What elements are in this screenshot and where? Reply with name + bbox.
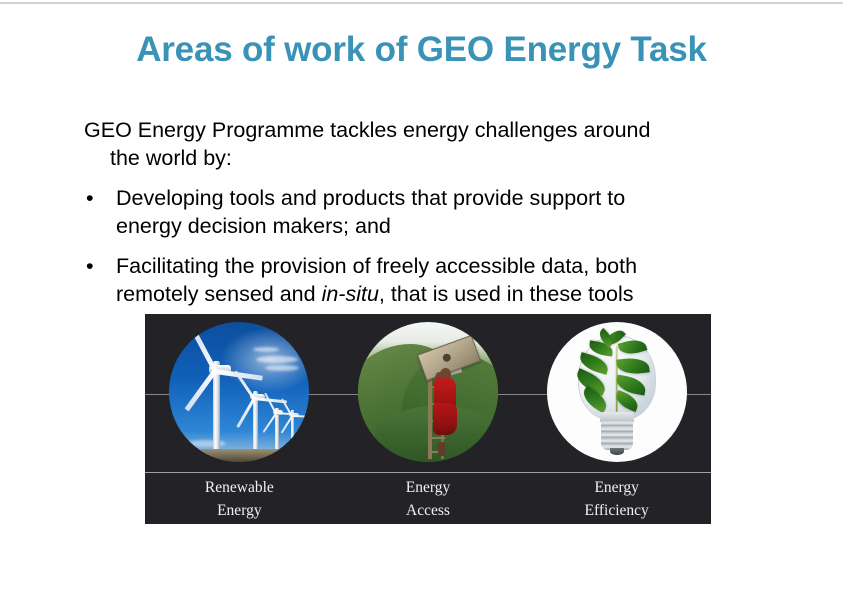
figure-caption-renewable-energy: Renewable Energy [145,476,334,522]
lightbulb-contact-tip [610,448,624,455]
caption-line-2: Energy [145,499,334,522]
lightbulb-with-plant-photo [547,322,687,462]
person-skirt-red-sari [433,403,457,435]
bullet-item-2: • Facilitating the provision of freely a… [84,252,774,308]
ladder-rung [428,437,445,439]
caption-line-1: Renewable [145,476,334,499]
page-title: Areas of work of GEO Energy Task [0,30,843,70]
wind-turbine-icon [169,322,309,462]
bullet-2-line-1: Facilitating the provision of freely acc… [116,252,774,280]
lead-line-1: GEO Energy Programme tackles energy chal… [84,118,650,142]
lightbulb-screw-base [601,420,633,450]
lead-line-2: the world by: [84,144,774,172]
person-leg [438,442,445,456]
bullet-2-line-2-post: , that is used in these tools [379,282,634,306]
bullet-item-1: • Developing tools and products that pro… [84,184,774,240]
ground-strip [169,449,309,462]
bullet-2-line-2: remotely sensed and in-situ, that is use… [116,280,774,308]
bullet-2-emphasis: in-situ [322,282,379,306]
figure-item-energy-access: Energy Access [334,314,523,524]
figure-panel: Renewable Energy [145,314,711,524]
figure-item-renewable-energy: Renewable Energy [145,314,334,524]
figure-caption-energy-efficiency: Energy Efficiency [522,476,711,522]
figure-caption-energy-access: Energy Access [334,476,523,522]
slide-top-border [0,2,843,4]
bullet-2-line-2-pre: remotely sensed and [116,282,322,306]
figure-item-energy-efficiency: Energy Efficiency [522,314,711,524]
caption-line-1: Energy [334,476,523,499]
bullet-marker-icon: • [86,184,94,212]
bullet-marker-icon: • [86,252,94,280]
figure-columns: Renewable Energy [145,314,711,524]
bullet-1-line-2: energy decision makers; and [116,212,774,240]
caption-line-2: Efficiency [522,499,711,522]
caption-line-1: Energy [522,476,711,499]
solar-panel-installer-photo [358,322,498,462]
caption-line-2: Access [334,499,523,522]
wind-turbines-photo [169,322,309,462]
bullet-1-line-1: Developing tools and products that provi… [116,184,774,212]
slide: Areas of work of GEO Energy Task GEO Ene… [0,0,843,593]
body-text-block: GEO Energy Programme tackles energy chal… [84,116,774,308]
lead-paragraph: GEO Energy Programme tackles energy chal… [84,116,774,172]
